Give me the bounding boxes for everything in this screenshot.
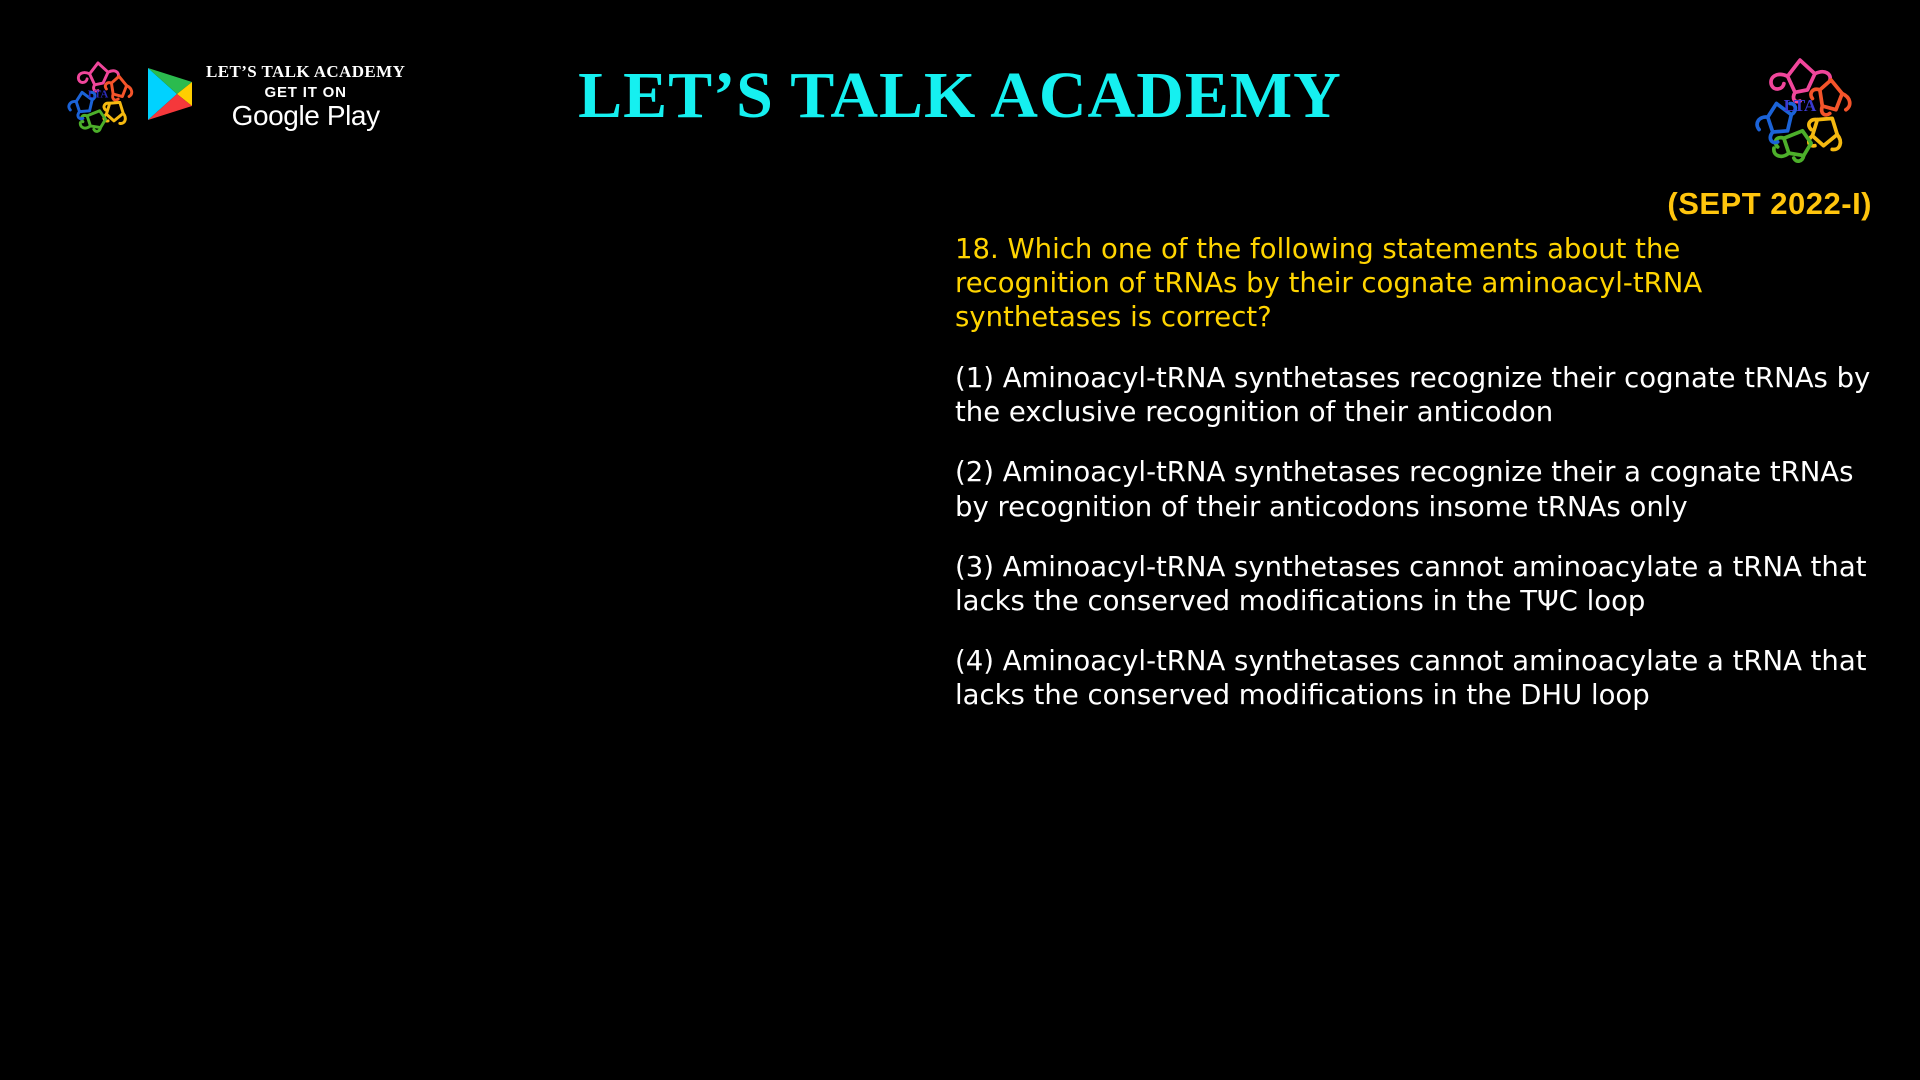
brand-right-group: LTA [1738,44,1862,172]
question-stem: 18. Which one of the following statement… [955,232,1755,334]
slide-root: LTA LET’S TALK ACADEMY GET IT ON Google … [0,0,1920,1080]
answer-option-2[interactable]: (2) Aminoacyl-tRNA synthetases recognize… [955,455,1875,523]
answer-option-4[interactable]: (4) Aminoacyl-tRNA synthetases cannot am… [955,644,1875,712]
question-block: 18. Which one of the following statement… [955,232,1875,712]
answer-option-3[interactable]: (3) Aminoacyl-tRNA synthetases cannot am… [955,550,1875,618]
answer-options-list: (1) Aminoacyl-tRNA synthetases recognize… [955,361,1875,712]
answer-option-1[interactable]: (1) Aminoacyl-tRNA synthetases recognize… [955,361,1875,429]
svg-text:LTA: LTA [1784,96,1817,115]
exam-session-badge: (SEPT 2022-I) [1667,186,1872,222]
protein-ribbon-logo-icon: LTA [1738,44,1862,172]
page-title: LET’S TALK ACADEMY [0,58,1920,134]
